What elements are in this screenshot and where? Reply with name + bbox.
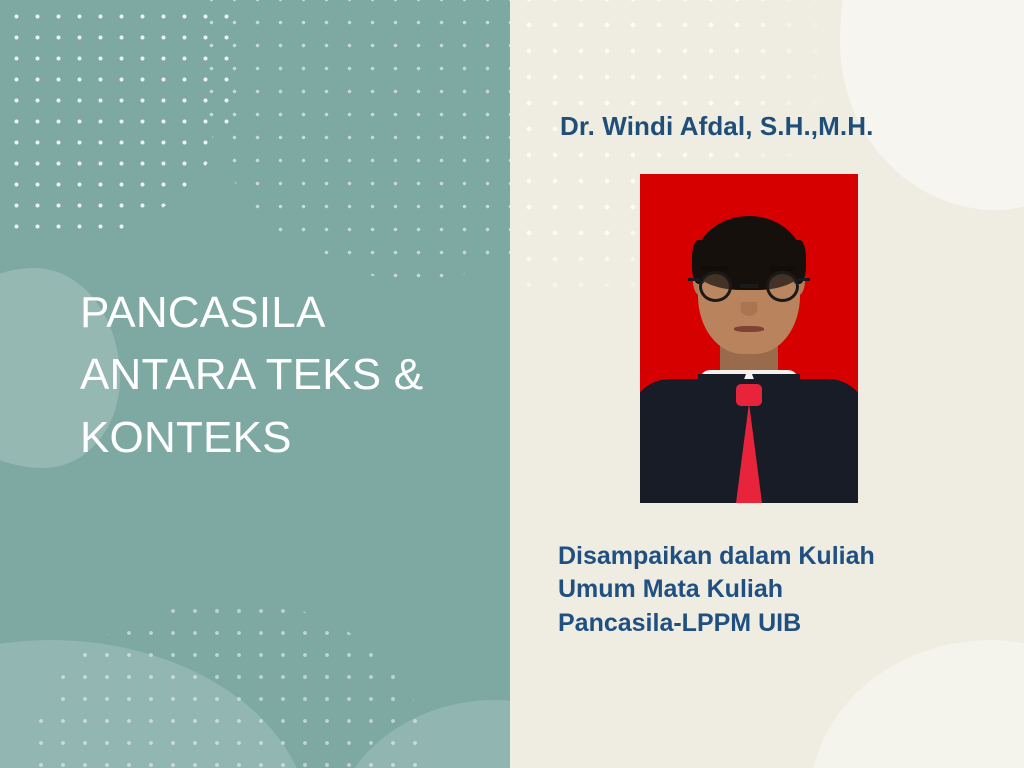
portrait-glasses-lens-right <box>766 271 799 302</box>
portrait-glasses-temple-right <box>798 278 810 281</box>
decorative-blob-right-bottom <box>810 640 1024 768</box>
portrait-glasses-temple-left <box>688 278 700 281</box>
decorative-blob-right-top <box>840 0 1024 210</box>
slide-title: PANCASILA ANTARA TEKS & KONTEKS <box>80 282 480 469</box>
left-title-panel: PANCASILA ANTARA TEKS & KONTEKS <box>0 0 510 768</box>
portrait-glasses-lens-left <box>699 271 732 302</box>
portrait-nose <box>741 302 758 316</box>
portrait-mouth <box>734 326 764 332</box>
presenter-name: Dr. Windi Afdal, S.H.,M.H. <box>560 111 873 142</box>
dot-pattern-top-blob-icon <box>200 0 510 280</box>
portrait-figure <box>640 174 858 503</box>
presentation-slide: PANCASILA ANTARA TEKS & KONTEKS Dr. Wind… <box>0 0 1024 768</box>
presenter-portrait-photo <box>640 174 858 503</box>
portrait-glasses-bridge <box>740 284 758 288</box>
event-caption: Disampaikan dalam Kuliah Umum Mata Kulia… <box>558 540 978 640</box>
dot-pattern-bottom-left-icon <box>30 600 430 768</box>
portrait-tie <box>736 403 762 503</box>
